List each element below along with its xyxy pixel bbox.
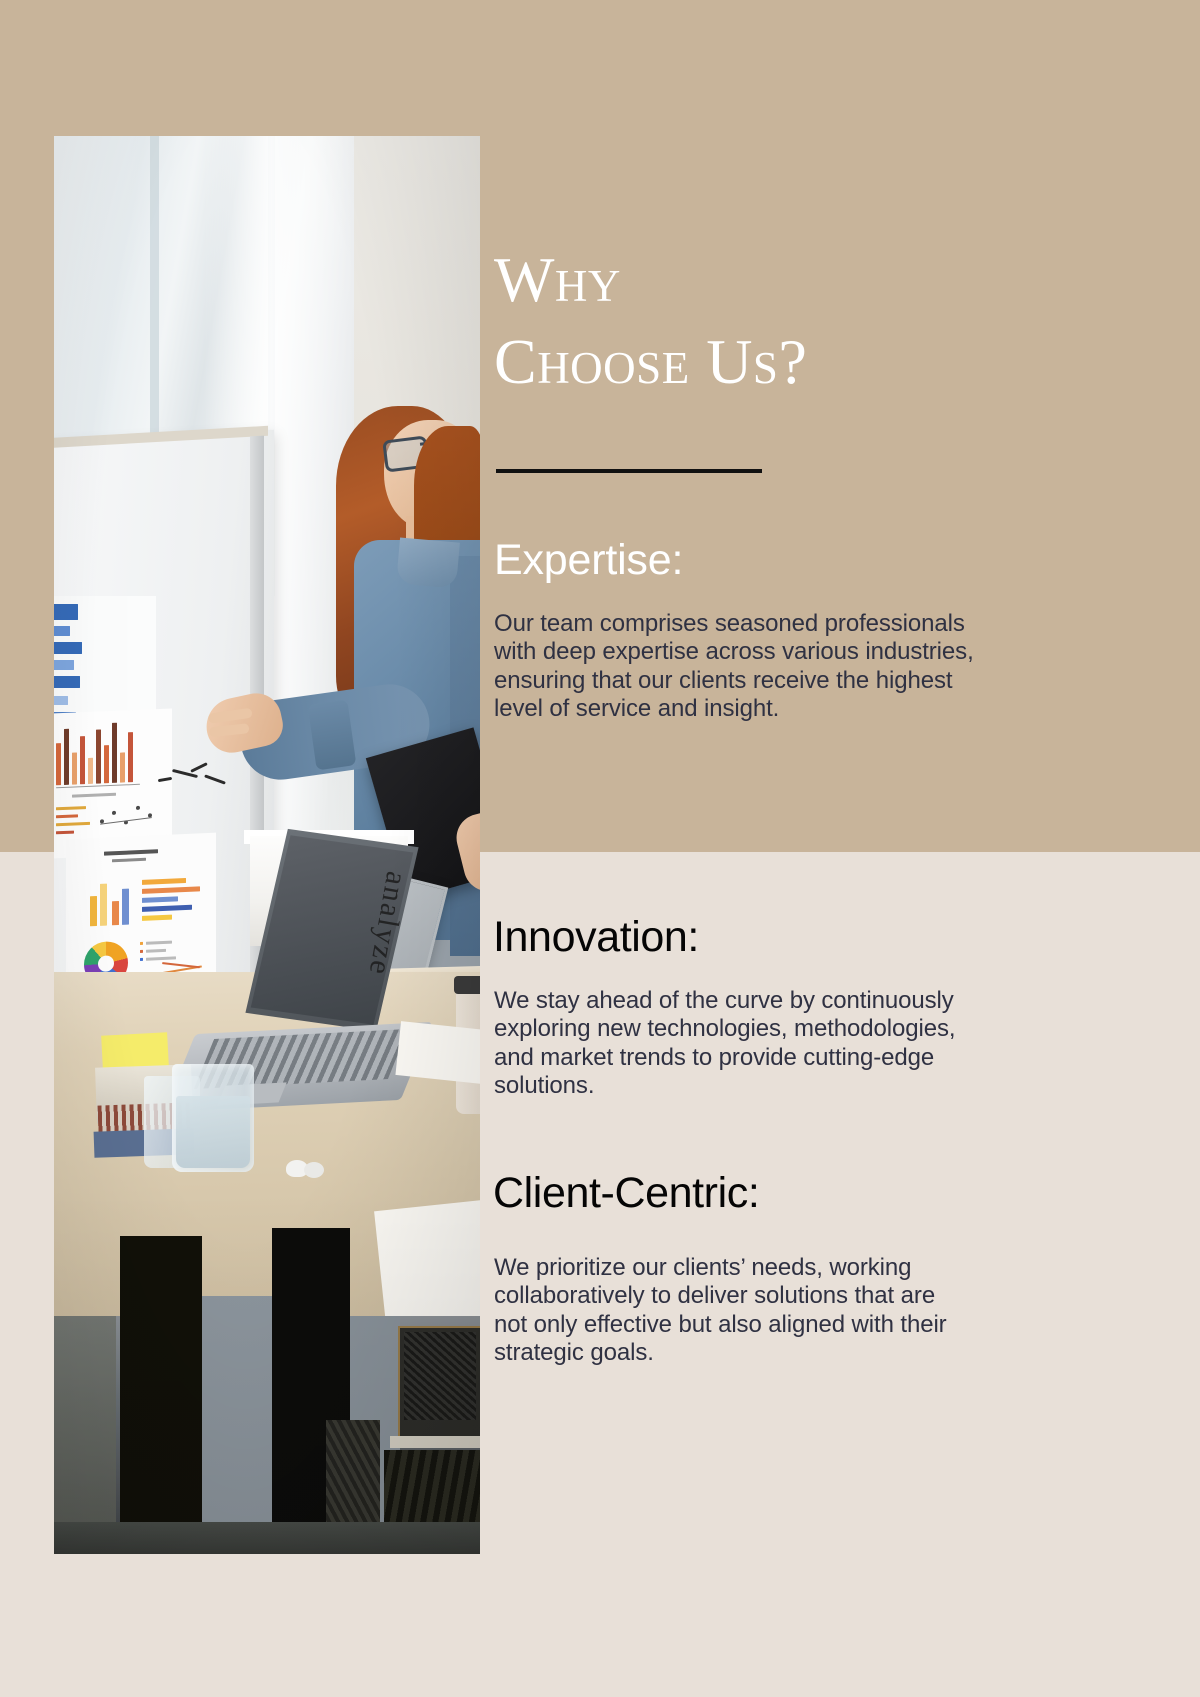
page-title-line-2: Choose Us? — [494, 321, 1134, 403]
section-body-client-centric: We prioritize our clients’ needs, workin… — [494, 1254, 964, 1367]
photo-vignette — [54, 136, 480, 1554]
poster-page: analyze Why Choose — [0, 0, 1200, 1697]
office-presentation-photo: analyze — [54, 136, 480, 1554]
section-heading-expertise: Expertise: — [494, 536, 1054, 585]
section-heading-client-centric: Client-Centric: — [493, 1169, 1113, 1218]
section-heading-innovation: Innovation: — [493, 913, 1053, 962]
section-body-innovation: We stay ahead of the curve by continuous… — [494, 987, 964, 1100]
page-title-line-1: Why — [494, 244, 621, 315]
page-title: Why Choose Us? — [494, 239, 1134, 403]
title-divider-rule — [496, 469, 762, 473]
section-body-expertise: Our team comprises seasoned professional… — [494, 610, 986, 723]
